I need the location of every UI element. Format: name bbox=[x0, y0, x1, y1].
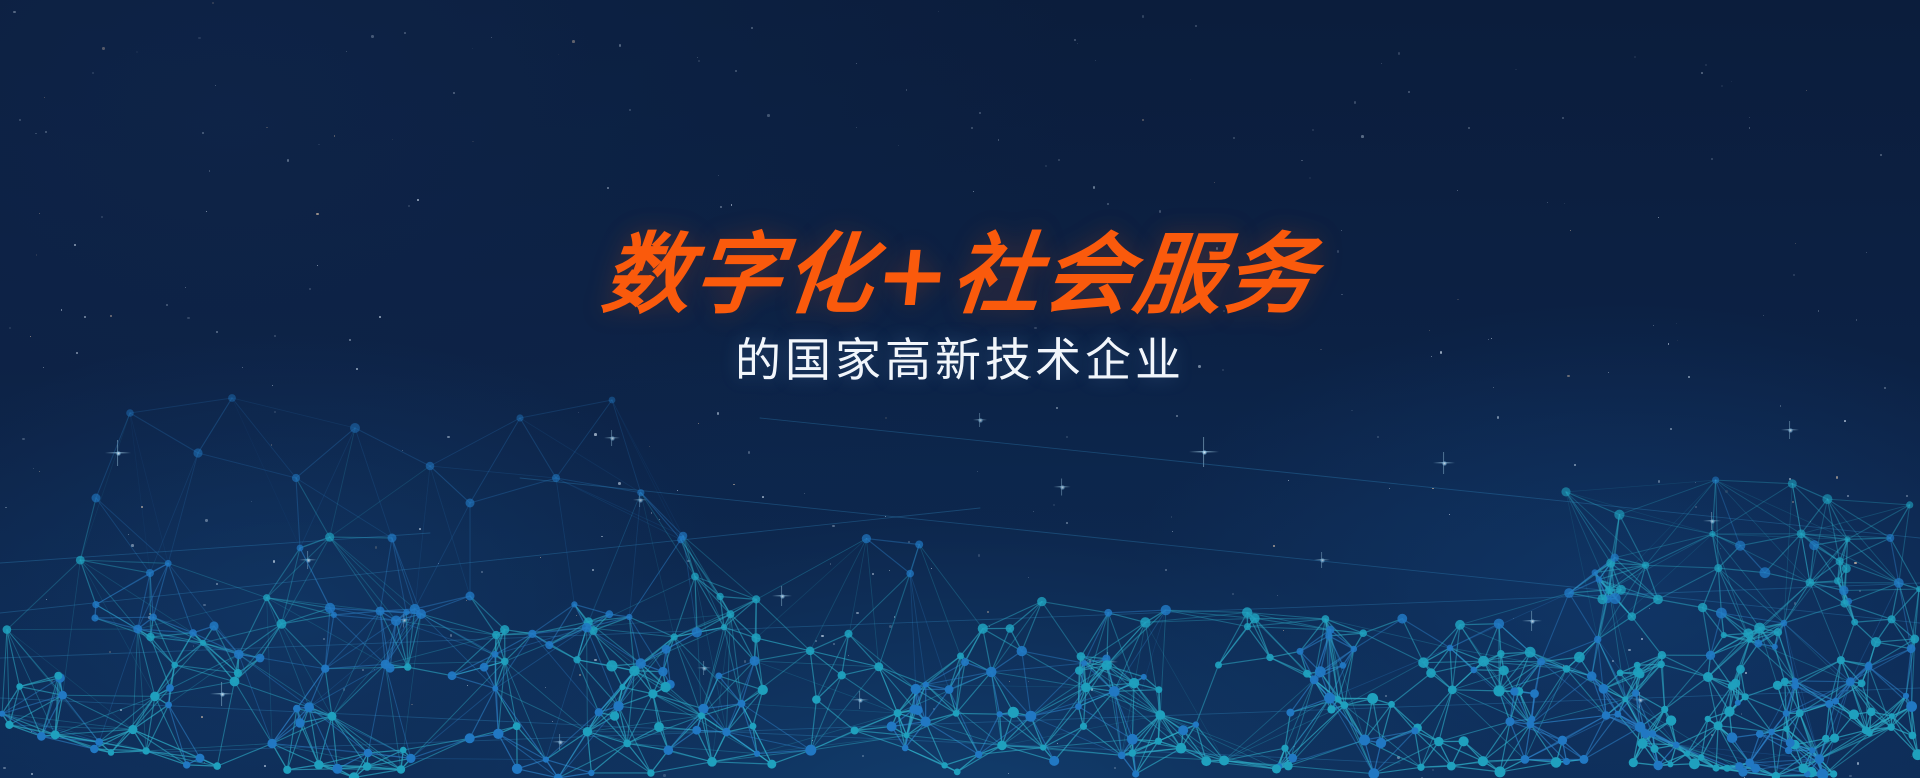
hero-text-block: 数字化+社会服务 的国家高新技术企业 bbox=[0, 228, 1920, 386]
hero-banner: 数字化+社会服务 的国家高新技术企业 bbox=[0, 0, 1920, 778]
background-gradient bbox=[0, 0, 1920, 778]
page-title: 数字化+社会服务 bbox=[0, 228, 1920, 321]
page-subtitle: 的国家高新技术企业 bbox=[0, 335, 1920, 386]
